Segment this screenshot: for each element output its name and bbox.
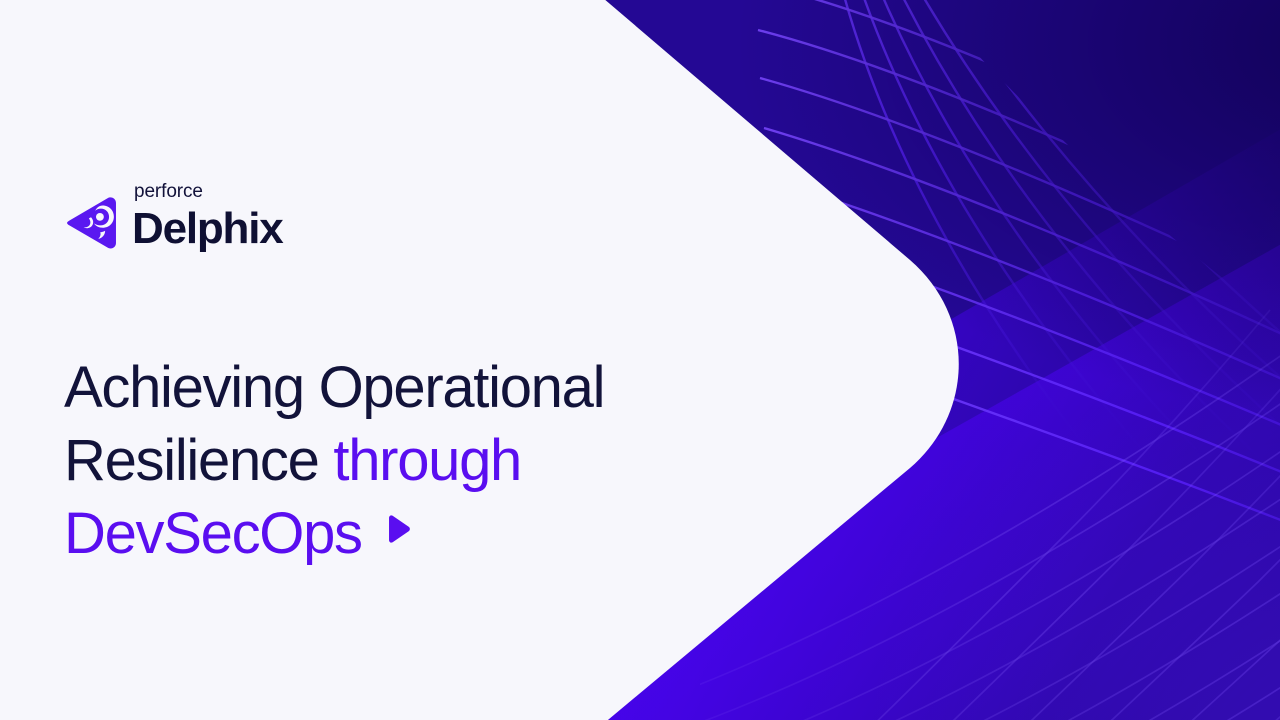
delphix-triangle-logo-icon (64, 195, 120, 251)
headline-line-2-accent: through (333, 428, 521, 493)
headline-line-2: Resilience through (64, 424, 744, 497)
brand-logo-lockup[interactable]: perforce Delphix (64, 182, 283, 251)
slide-content: perforce Delphix Achieving Operational R… (64, 0, 764, 720)
headline-line-2-primary: Resilience (64, 428, 319, 493)
page-title: Achieving Operational Resilience through… (64, 351, 744, 570)
perforce-wordmark: perforce (134, 182, 283, 201)
play-triangle-icon (380, 512, 414, 546)
headline-line-3-accent: DevSecOps (64, 501, 362, 566)
title-slide: perforce Delphix Achieving Operational R… (0, 0, 1280, 720)
delphix-wordmark: Delphix (132, 207, 283, 251)
headline-line-1: Achieving Operational (64, 351, 744, 424)
headline-line-3: DevSecOps (64, 497, 744, 570)
brand-wordmark: perforce Delphix (132, 182, 283, 251)
